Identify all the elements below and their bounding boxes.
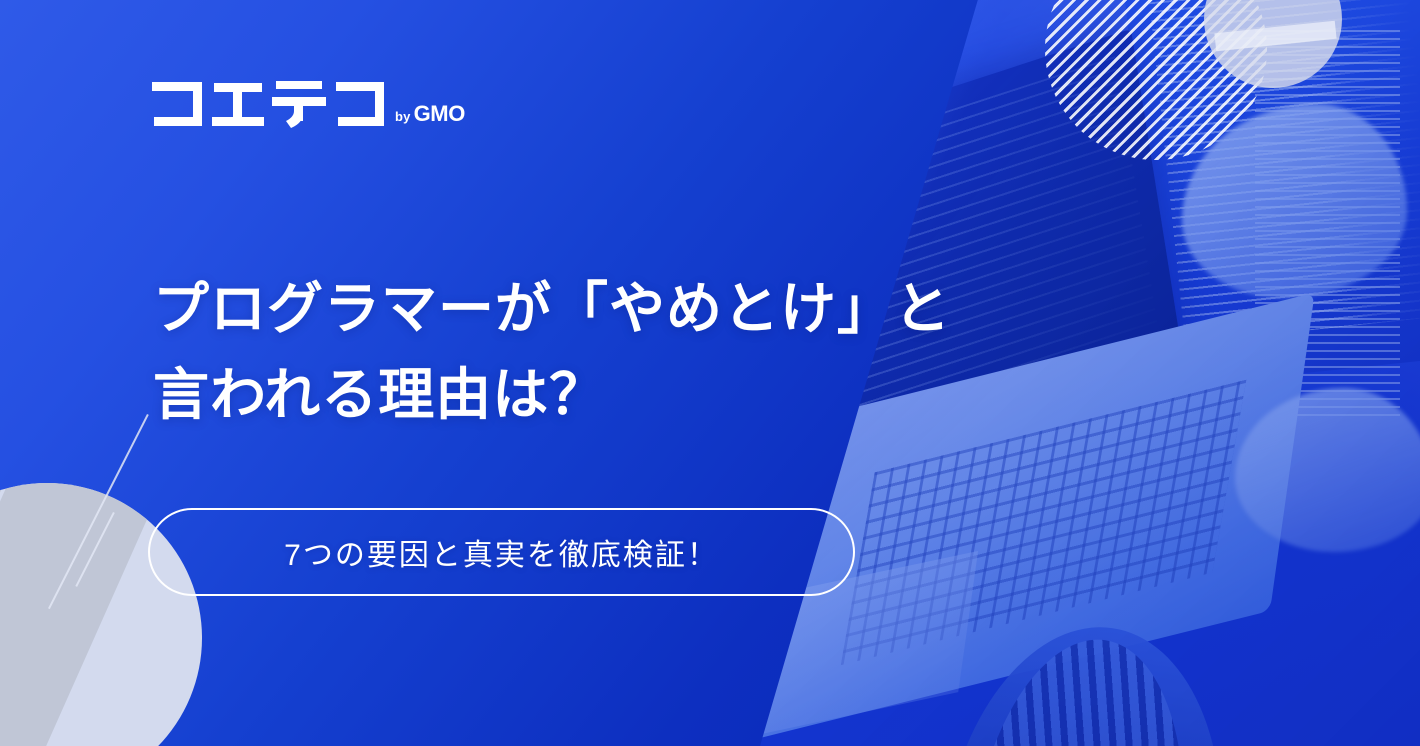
hero-banner: by GMO プログラマーが「やめとけ」と 言われる理由は？ 7つの要因と真実を…: [0, 0, 1420, 746]
page-title-line-2: 言われる理由は？: [153, 352, 951, 438]
site-logo[interactable]: by GMO: [152, 80, 465, 132]
page-title: プログラマーが「やめとけ」と 言われる理由は？: [153, 266, 951, 438]
page-title-line-1: プログラマーが「やめとけ」と: [153, 266, 951, 352]
by-label: by: [395, 109, 411, 124]
circle-band-decoration: [0, 483, 180, 746]
subtitle-text: 7つの要因と真実を徹底検証！: [284, 530, 719, 574]
gmo-label: GMO: [414, 101, 465, 127]
koeteco-logo-icon: [152, 80, 384, 132]
by-gmo-label: by GMO: [395, 101, 465, 132]
subtitle-pill: 7つの要因と真実を徹底検証！: [148, 508, 855, 596]
